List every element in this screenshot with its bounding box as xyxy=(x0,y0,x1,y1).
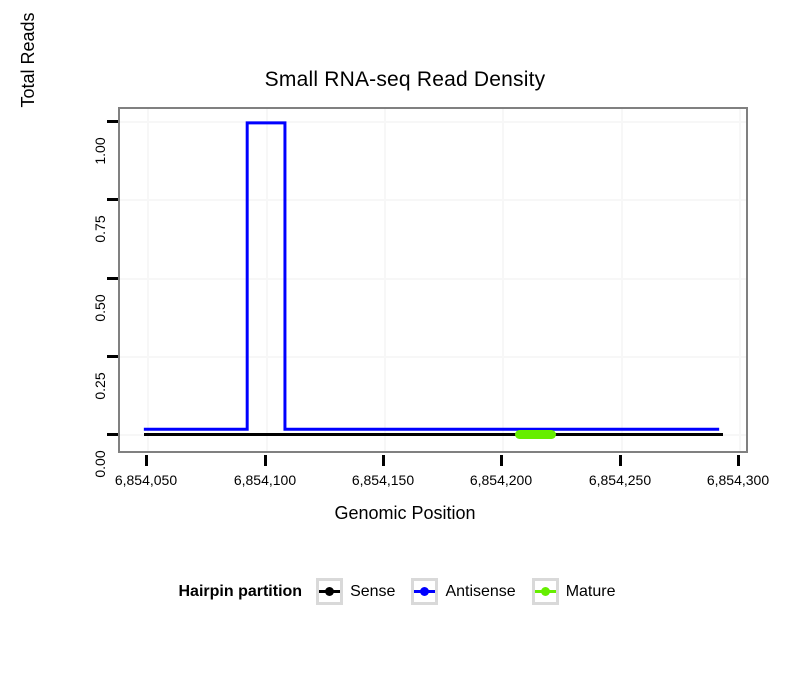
x-tick-label: 6,854,100 xyxy=(210,472,320,488)
legend-item-antisense[interactable]: Antisense xyxy=(411,578,515,605)
legend-key-dot xyxy=(325,587,334,596)
legend-key-dot xyxy=(541,587,550,596)
x-tick-label: 6,854,200 xyxy=(446,472,556,488)
y-tick-label: 0.25 xyxy=(92,356,108,416)
legend-label-antisense: Antisense xyxy=(445,583,515,601)
legend-key-mature-icon xyxy=(532,578,559,605)
x-tick-mark xyxy=(619,455,622,466)
x-tick-label: 6,854,150 xyxy=(328,472,438,488)
plot-area xyxy=(120,109,746,451)
legend-title: Hairpin partition xyxy=(179,583,303,601)
y-tick-mark xyxy=(107,120,118,123)
x-tick-label: 6,854,300 xyxy=(683,472,793,488)
x-tick-mark xyxy=(264,455,267,466)
legend-key-antisense-icon xyxy=(411,578,438,605)
y-tick-mark xyxy=(107,198,118,201)
y-tick-label: 1.00 xyxy=(92,121,108,181)
chart-title: Small RNA-seq Read Density xyxy=(0,68,810,92)
y-tick-label: 0.75 xyxy=(92,199,108,259)
legend-item-mature[interactable]: Mature xyxy=(532,578,616,605)
legend-key-dot xyxy=(420,587,429,596)
y-tick-mark xyxy=(107,277,118,280)
y-axis-title: Total Reads xyxy=(18,0,39,170)
y-tick-mark xyxy=(107,433,118,436)
x-axis-title: Genomic Position xyxy=(0,503,810,524)
plot-panel xyxy=(118,107,748,453)
legend-key-sense-icon xyxy=(316,578,343,605)
x-tick-label: 6,854,250 xyxy=(565,472,675,488)
legend-label-sense: Sense xyxy=(350,583,395,601)
y-tick-label: 0.50 xyxy=(92,278,108,338)
x-tick-mark xyxy=(145,455,148,466)
legend-item-sense[interactable]: Sense xyxy=(316,578,395,605)
series-segment-mature xyxy=(515,430,556,439)
chart-legend: Hairpin partition Sense Antisense Mature xyxy=(0,578,810,605)
y-tick-mark xyxy=(107,355,118,358)
x-tick-mark xyxy=(382,455,385,466)
x-tick-label: 6,854,050 xyxy=(91,472,201,488)
legend-label-mature: Mature xyxy=(566,583,616,601)
x-tick-mark xyxy=(500,455,503,466)
chart-figure: Small RNA-seq Read Density Total Reads 1… xyxy=(0,0,810,690)
x-tick-mark xyxy=(737,455,740,466)
series-line-antisense xyxy=(120,109,746,451)
